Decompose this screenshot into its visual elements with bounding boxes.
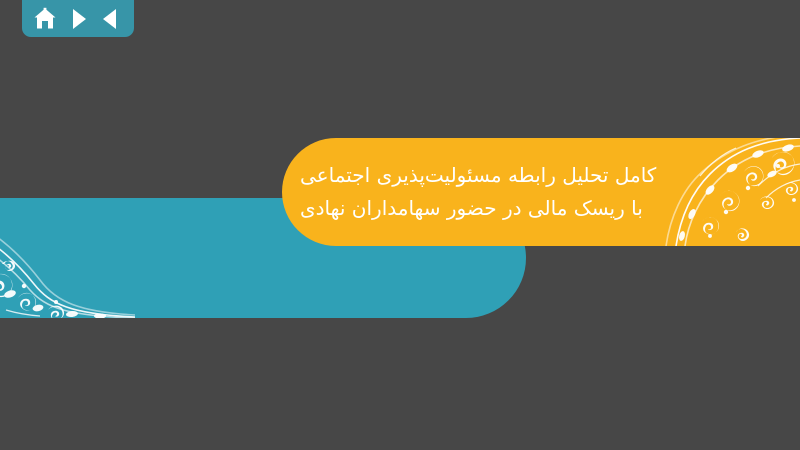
slide-canvas: کامل تحلیل رابطه مسئولیت‌پذیری اجتماعی ب… bbox=[0, 0, 800, 450]
slide-title: کامل تحلیل رابطه مسئولیت‌پذیری اجتماعی ب… bbox=[300, 138, 650, 246]
triangle-left-icon bbox=[101, 8, 121, 30]
navigation-bar bbox=[22, 0, 134, 37]
islimi-ornament-orange bbox=[640, 138, 800, 246]
triangle-right-icon bbox=[68, 8, 88, 30]
title-line-2: با ریسک مالی در حضور سهامداران نهادی bbox=[300, 194, 643, 223]
next-button[interactable] bbox=[64, 5, 92, 33]
house-icon bbox=[33, 7, 57, 31]
title-banner: کامل تحلیل رابطه مسئولیت‌پذیری اجتماعی ب… bbox=[282, 138, 800, 246]
home-button[interactable] bbox=[31, 5, 59, 33]
previous-button[interactable] bbox=[97, 5, 125, 33]
islimi-ornament-teal bbox=[0, 198, 135, 318]
title-line-1: کامل تحلیل رابطه مسئولیت‌پذیری اجتماعی bbox=[300, 161, 656, 190]
